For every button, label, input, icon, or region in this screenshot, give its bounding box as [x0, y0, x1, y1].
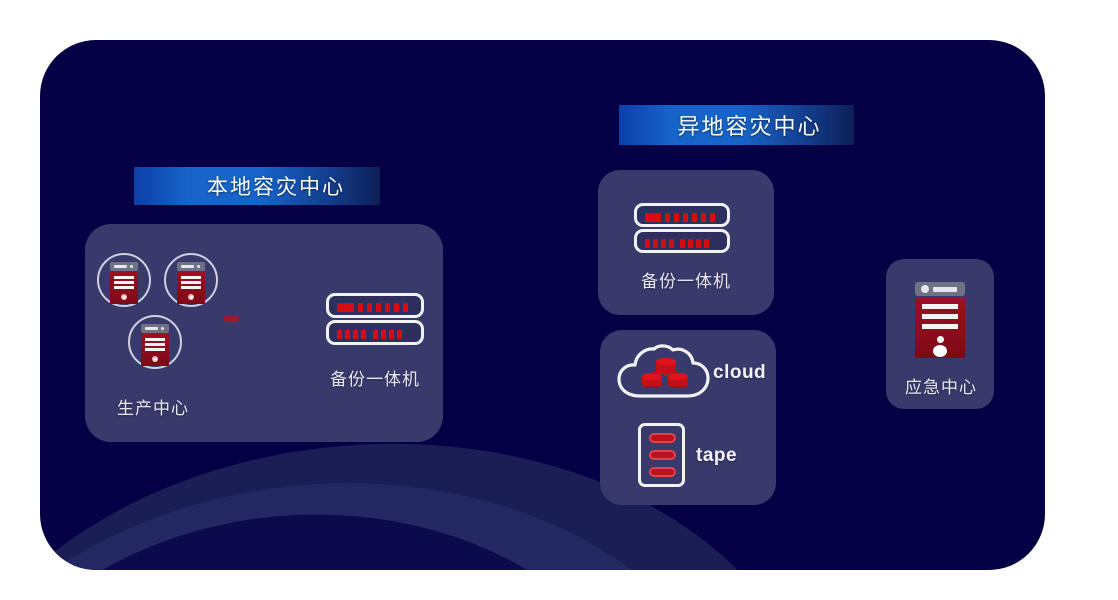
- db-cylinder-left: [642, 373, 662, 388]
- diagram-canvas: 异地容灾中心 本地容灾中心: [0, 0, 1118, 600]
- db-connector-bar: [652, 371, 678, 374]
- label-tape: tape: [696, 445, 737, 467]
- tape-cartridge-2: [649, 450, 676, 460]
- server-tower-icon-2: [177, 262, 205, 304]
- db-cylinder-right: [668, 373, 688, 388]
- server-tower-icon-3: [141, 324, 169, 366]
- backup-appliance-icon-remote: [634, 203, 730, 253]
- server-tower-icon-1: [110, 262, 138, 304]
- label-production-center: 生产中心: [117, 394, 189, 419]
- label-emergency-center: 应急中心: [905, 373, 977, 398]
- banner-local-label: 本地容灾中心: [169, 171, 345, 201]
- banner-remote-label: 异地容灾中心: [651, 109, 821, 141]
- label-backup-appliance-local: 备份一体机: [330, 365, 420, 390]
- banner-remote-dr-center: 异地容灾中心: [619, 105, 854, 145]
- link-marker: [223, 316, 239, 322]
- banner-local-dr-center: 本地容灾中心: [134, 167, 380, 205]
- server-tower-icon-emergency: [915, 282, 965, 358]
- tape-cartridge-1: [649, 433, 676, 443]
- tape-library-icon: [638, 423, 685, 487]
- background-swoosh-c: [40, 497, 657, 570]
- tape-cartridge-3: [649, 467, 676, 477]
- label-cloud: cloud: [713, 362, 766, 384]
- cloud-storage-icon: [616, 344, 710, 402]
- label-backup-appliance-remote: 备份一体机: [641, 267, 731, 292]
- backup-appliance-icon-local: [326, 293, 424, 345]
